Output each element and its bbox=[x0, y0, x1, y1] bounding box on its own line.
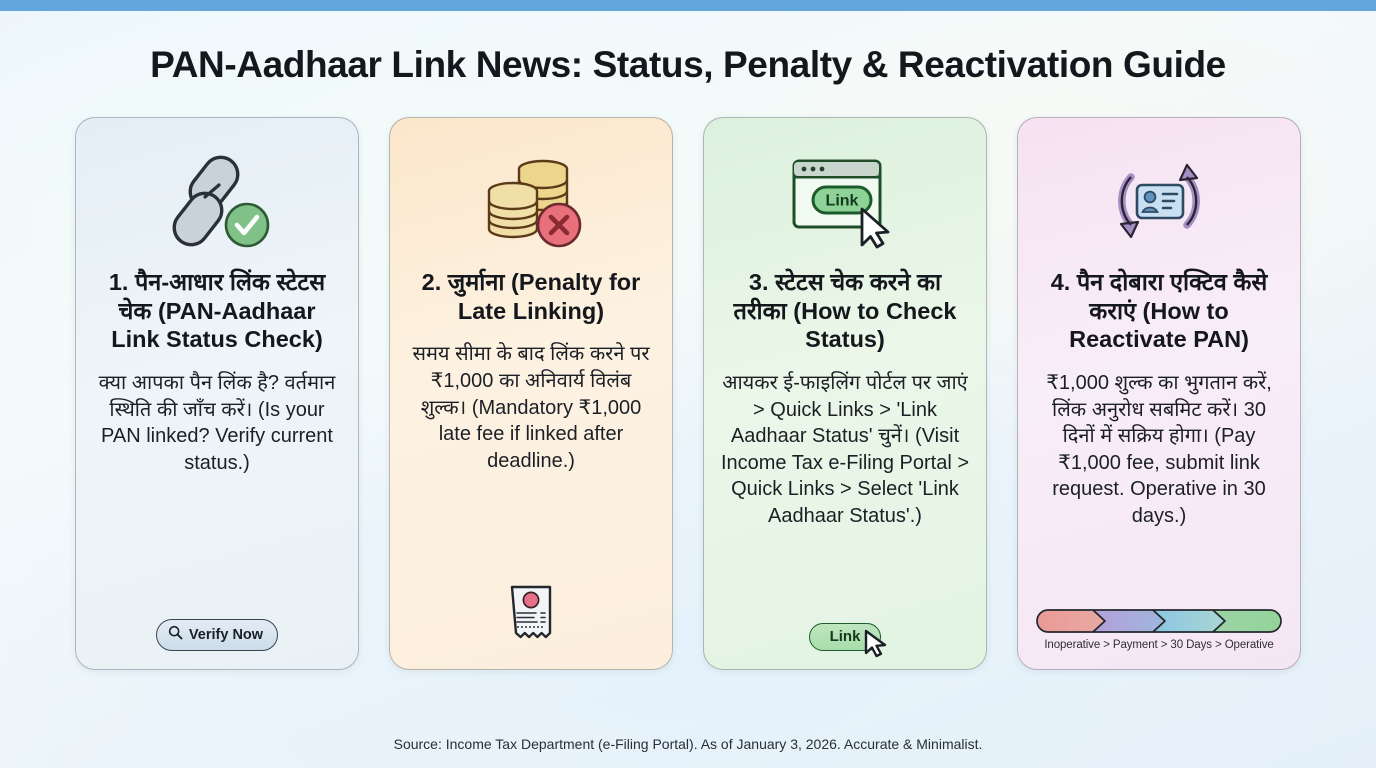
reactivation-progress: Inoperative > Payment > 30 Days > Operat… bbox=[1034, 608, 1284, 651]
progress-caption: Inoperative > Payment > 30 Days > Operat… bbox=[1044, 639, 1273, 651]
page-title: PAN-Aadhaar Link News: Status, Penalty &… bbox=[0, 44, 1376, 86]
chain-link-check-icon bbox=[161, 140, 273, 262]
card-body: ₹1,000 शुल्क का भुगतान करें, लिंक अनुरोध… bbox=[1034, 370, 1284, 530]
verify-now-label: Verify Now bbox=[189, 627, 263, 643]
card-title: 3. स्टेटस चेक करने का तरीका (How to Chec… bbox=[720, 268, 970, 354]
browser-link-click-icon: Link bbox=[784, 140, 906, 262]
card-body: आयकर ई-फाइलिंग पोर्टल पर जाएं > Quick Li… bbox=[720, 370, 970, 530]
card-title: 4. पैन दोबारा एक्टिव कैसे कराएं (How to … bbox=[1034, 268, 1284, 354]
card-footer: Link bbox=[720, 609, 970, 651]
top-accent-bar bbox=[0, 0, 1376, 11]
card-pan-status-check[interactable]: 1. पैन-आधार लिंक स्टेटस चेक (PAN-Aadhaar… bbox=[75, 117, 359, 670]
cursor-icon bbox=[863, 629, 889, 664]
card-grid: 1. पैन-आधार लिंक स्टेटस चेक (PAN-Aadhaar… bbox=[0, 117, 1376, 726]
id-card-refresh-icon bbox=[1101, 140, 1217, 262]
progress-chevrons-icon bbox=[1035, 608, 1283, 634]
receipt-icon bbox=[508, 584, 554, 647]
card-body: समय सीमा के बाद लिंक करने पर ₹1,000 का अ… bbox=[406, 341, 656, 474]
card-title: 2. जुर्माना (Penalty for Late Linking) bbox=[406, 268, 656, 325]
card-penalty[interactable]: 2. जुर्माना (Penalty for Late Linking) स… bbox=[389, 117, 673, 670]
search-icon bbox=[168, 625, 183, 644]
link-button-group[interactable]: Link bbox=[809, 623, 882, 651]
card-reactivate-pan[interactable]: 4. पैन दोबारा एक्टिव कैसे कराएं (How to … bbox=[1017, 117, 1301, 670]
card-how-to-check-status[interactable]: Link 3. स्टेटस चेक करने का तरीका (How to… bbox=[703, 117, 987, 670]
verify-now-button[interactable]: Verify Now bbox=[156, 619, 278, 651]
card-body: क्या आपका पैन लिंक है? वर्तमान स्थिति की… bbox=[92, 370, 342, 476]
card-footer: Verify Now bbox=[92, 605, 342, 651]
card-title: 1. पैन-आधार लिंक स्टेटस चेक (PAN-Aadhaar… bbox=[92, 268, 342, 354]
card-footer bbox=[406, 570, 656, 651]
infographic-root: PAN-Aadhaar Link News: Status, Penalty &… bbox=[0, 0, 1376, 768]
source-footer: Source: Income Tax Department (e-Filing … bbox=[0, 726, 1376, 768]
coins-penalty-icon bbox=[475, 140, 587, 262]
svg-text:Link: Link bbox=[826, 193, 859, 210]
card-footer: Inoperative > Payment > 30 Days > Operat… bbox=[1034, 594, 1284, 651]
